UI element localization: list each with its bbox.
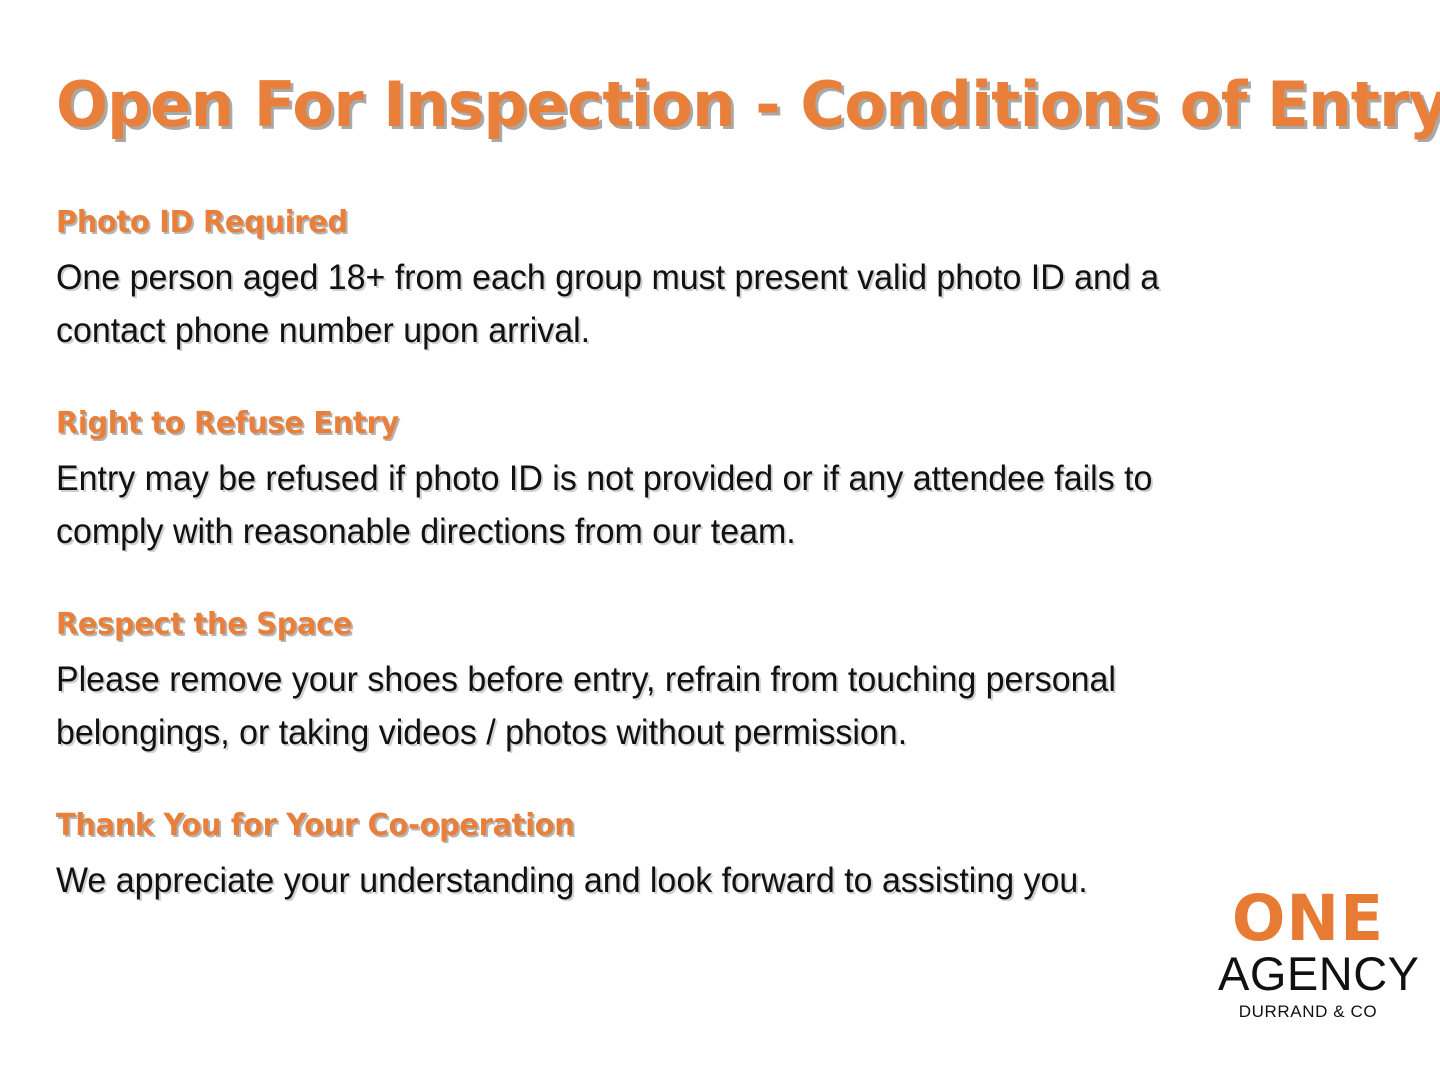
section-body-thank-you: We appreciate your understanding and loo… <box>56 854 1269 907</box>
logo-franchise-text: DURRAND & CO <box>1218 1003 1398 1022</box>
section-heading-photo-id: Photo ID Required <box>56 206 1294 240</box>
section-heading-thank-you: Thank You for Your Co-operation <box>56 809 1294 843</box>
logo-one-text: ONE <box>1218 889 1398 948</box>
page-title: Open For Inspection - Conditions of Entr… <box>56 72 1396 139</box>
conditions-list: Photo ID Required One person aged 18+ fr… <box>56 206 1346 907</box>
condition-section: Right to Refuse Entry Entry may be refus… <box>56 407 1346 558</box>
section-body-right-to-refuse: Entry may be refused if photo ID is not … <box>56 452 1269 558</box>
slide-canvas: Open For Inspection - Conditions of Entr… <box>0 0 1440 1080</box>
logo-agency-text: AGENCY <box>1218 950 1398 997</box>
condition-section: Photo ID Required One person aged 18+ fr… <box>56 206 1346 357</box>
one-agency-logo: ONE AGENCY DURRAND & CO <box>1218 889 1398 1022</box>
section-heading-respect-the-space: Respect the Space <box>56 608 1294 642</box>
condition-section: Thank You for Your Co-operation We appre… <box>56 809 1346 907</box>
section-body-respect-the-space: Please remove your shoes before entry, r… <box>56 653 1269 759</box>
section-heading-right-to-refuse: Right to Refuse Entry <box>56 407 1294 441</box>
section-body-photo-id: One person aged 18+ from each group must… <box>56 251 1269 357</box>
condition-section: Respect the Space Please remove your sho… <box>56 608 1346 759</box>
